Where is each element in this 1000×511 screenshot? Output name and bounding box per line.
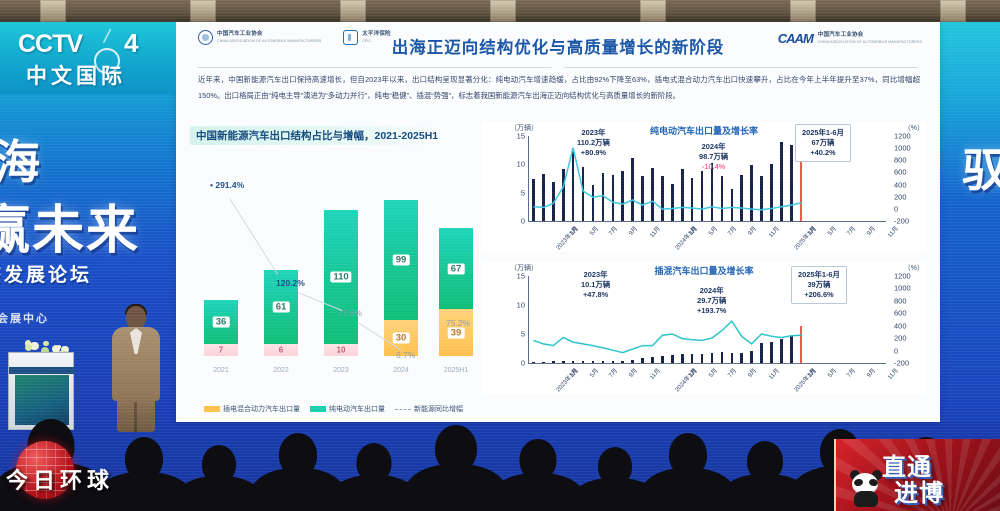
x-axis-label: 7月 (606, 366, 619, 379)
x-axis-label: 9月 (864, 366, 877, 379)
x-axis-label: 11月 (885, 366, 900, 381)
program-bug-left-label: 今日环球 (6, 463, 114, 495)
y-axis-label-right: 200 (894, 334, 907, 343)
slide-body-text: 近年来，中国新能源汽车出口保持高速增长，但自2023年以来，出口结构呈现显著分化… (198, 72, 920, 104)
annotation-year: 2025年1-6月 (798, 270, 840, 280)
slide-title: 出海正迈向结构优化与高质量增长的新阶段 (176, 34, 940, 58)
bar-segment-bev: 99 (384, 200, 418, 320)
channel-subtitle: 中文国际 (26, 60, 126, 90)
bar-value-label: 67 (448, 263, 465, 274)
chart-export-structure-title: 中国新能源汽车出口结构占比与增幅，2021-2025H1 (190, 126, 444, 145)
annotation-volume: 67万辆 (802, 138, 844, 148)
chart-annotation: 2025年1-6月39万辆+206.6% (791, 266, 847, 304)
podium-band (9, 367, 75, 374)
audience-head (747, 441, 783, 481)
annotation-year: 2023年 (581, 270, 610, 280)
cctv-wordmark: CCTV (18, 30, 82, 59)
x-axis-label: 11月 (647, 224, 662, 239)
y-axis-label-left: 0 (521, 217, 525, 226)
chart-phev-export: （万辆） 插混汽车出口量及增长率 （%） 1510501200100080060… (482, 262, 926, 394)
bar-x-label: 2023 (324, 367, 358, 374)
y-axis-label-left: 5 (521, 188, 525, 197)
ceiling-strip (0, 0, 1000, 22)
x-axis-label: 5月 (706, 224, 719, 237)
bar-x-label: 2022 (264, 367, 298, 374)
y-axis-label-left: 15 (517, 132, 525, 141)
audience-shoulders (404, 464, 508, 511)
annotation-year: 2024年 (697, 286, 726, 296)
y-axis-label-left: 0 (521, 359, 525, 368)
y-axis-label-right: 1200 (894, 132, 911, 141)
panda-mascot-icon (848, 471, 884, 505)
annotation-volume: 98.7万辆 (699, 152, 728, 162)
x-axis-label: 9月 (626, 366, 639, 379)
annotation-volume: 110.2万辆 (577, 138, 610, 148)
annotation-growth: +206.6% (798, 290, 840, 300)
flower (25, 344, 32, 351)
program-bug-right: 直通 进博 (834, 439, 1000, 511)
channel-logo-bug: CCTV / 4 中文国际 (0, 22, 176, 94)
y-axis-label-left: 10 (517, 301, 525, 310)
annotation-year: 2024年 (699, 142, 728, 152)
bar-column: 6739 (439, 228, 473, 356)
ceiling-tile (640, 0, 666, 22)
program-bug-right-line2: 进博 (894, 473, 944, 508)
audience-member (572, 447, 658, 511)
x-axis-label: 5月 (587, 224, 600, 237)
x-axis-label: 7月 (844, 224, 857, 237)
audience-head (598, 447, 632, 485)
audience-shoulders (176, 476, 262, 511)
backdrop-text-venue: 际会展中心 (0, 310, 49, 326)
chart-export-structure-legend: 插电混合动力汽车出口量纯电动汽车出口量新能源同比增幅 (204, 404, 463, 414)
audience-head (357, 443, 392, 482)
bar-column: 9930 (384, 200, 418, 356)
chart-annotation: 2024年29.7万辆+193.7% (697, 286, 726, 316)
y-axis-label-left: 5 (521, 330, 525, 339)
annotation-volume: 39万辆 (798, 280, 840, 290)
chart-bev-export: （万辆） 纯电动汽车出口量及增长率 （%） 151050120010008006… (482, 122, 926, 252)
leader-line (229, 198, 278, 275)
chart-annotation: 2024年98.7万辆-10.4% (699, 142, 728, 172)
bar-x-label: 2021 (204, 367, 238, 374)
annotation-growth: +193.7% (697, 306, 726, 316)
x-axis-label: 7月 (725, 366, 738, 379)
legend-swatch (395, 409, 411, 410)
y-axis-label-right: 1000 (894, 284, 911, 293)
bar-growth-label: • 291.4% (210, 180, 244, 190)
y-axis-label-left: 15 (517, 272, 525, 281)
audience-shoulders (572, 478, 658, 511)
bar-value-label: 61 (273, 302, 290, 313)
x-axis-label: 11月 (647, 366, 662, 381)
chart-phev-plot: 151050120010008006004002000-2002023年1月3月… (528, 276, 886, 364)
bar-segment-other: 7 (204, 344, 238, 356)
bar-segment-bev: 67 (439, 228, 473, 309)
body-paragraph: 近年来，中国新能源汽车出口保持高速增长，但自2023年以来，出口结构呈现显著分化… (198, 72, 920, 104)
audience-shoulders (330, 475, 418, 511)
x-axis-label: 7月 (844, 366, 857, 379)
audience-shoulders (492, 473, 584, 511)
legend-item: 新能源同比增幅 (395, 404, 463, 414)
bar-growth-label: 6.7% (396, 350, 415, 360)
audience-head (520, 439, 557, 480)
y-axis-label-left: 10 (517, 160, 525, 169)
x-axis-label: 9月 (745, 224, 758, 237)
legend-item: 插电混合动力汽车出口量 (204, 404, 300, 414)
x-axis-label: 11月 (885, 224, 900, 239)
x-axis-label: 7月 (725, 224, 738, 237)
bar-value-label: 6 (276, 346, 286, 355)
x-axis-label: 9月 (864, 224, 877, 237)
podium-placard (15, 375, 69, 425)
audience-shoulders (250, 468, 346, 511)
annotation-growth: -10.4% (699, 162, 728, 172)
y-axis-label-right: 0 (894, 346, 898, 355)
ceiling-tile (940, 0, 966, 22)
backdrop-text-hai: 海 (0, 126, 42, 192)
flower (43, 341, 48, 346)
bar-segment-bev: 110 (324, 210, 358, 344)
annotation-growth: +40.2% (802, 148, 844, 158)
program-bug-left: 今日环球 (0, 443, 128, 499)
channel-number: 4 (124, 28, 138, 59)
stage-led-wall-right: 驭 (940, 22, 1000, 422)
annotation-growth: +47.8% (581, 290, 610, 300)
y-axis-label-right: 1000 (894, 144, 911, 153)
x-axis-label: 11月 (766, 224, 781, 239)
audience-head (125, 437, 163, 480)
annotation-growth: +80.9% (577, 148, 610, 158)
bar-value-label: 10 (334, 346, 349, 355)
legend-swatch (310, 406, 326, 412)
speaker-head (126, 306, 146, 329)
audience-member (250, 433, 346, 511)
bar-growth-label: 120.2% (276, 278, 305, 288)
y-axis-label-right: 400 (894, 321, 907, 330)
audience-member (404, 425, 508, 511)
audience-member (640, 433, 736, 511)
audience-shoulders (640, 468, 736, 511)
y-axis-label-right: 200 (894, 192, 907, 201)
x-axis-label: 5月 (825, 366, 838, 379)
backdrop-text-ying: 赢未来 (0, 188, 140, 263)
audience-head (435, 425, 477, 472)
bar-segment-other: 10 (324, 344, 358, 356)
legend-label: 纯电动汽车出口量 (329, 406, 385, 413)
ceiling-tile (340, 0, 366, 22)
y-axis-label-right: -200 (894, 217, 909, 226)
bar-value-label: 36 (213, 317, 230, 328)
annotation-volume: 29.7万辆 (697, 296, 726, 306)
y-axis-label-right: 1200 (894, 272, 911, 281)
x-axis-label: 7月 (606, 224, 619, 237)
x-axis-label: 5月 (825, 224, 838, 237)
x-axis-label: 5月 (587, 366, 600, 379)
x-axis-label: 9月 (745, 366, 758, 379)
bar-x-label: 2024 (384, 367, 418, 374)
y-axis-label-right: 600 (894, 309, 907, 318)
audience-head (669, 433, 707, 476)
x-axis-label: 5月 (706, 366, 719, 379)
presentation-slide: 中国汽车工业协会 CHINA ASSOCIATION OF AUTOMOBILE… (176, 22, 940, 422)
audience-member (720, 441, 810, 511)
bar-value-label: 7 (216, 346, 226, 355)
bar-growth-label: 75.2% (446, 318, 470, 328)
audience-shoulders (720, 474, 810, 511)
bar-column: 367 (204, 300, 238, 356)
chart-annotation: 2025年1-6月67万辆+40.2% (795, 124, 851, 162)
legend-item: 纯电动汽车出口量 (310, 404, 385, 414)
audience-head (279, 433, 317, 476)
logo-slash-icon: / (102, 26, 112, 50)
chart-export-structure-plot: 367202161620221101020239930202467392025H… (190, 154, 478, 384)
bar-value-label: 99 (393, 255, 410, 266)
y-axis-label-right: 800 (894, 296, 907, 305)
audience-member (330, 443, 418, 511)
x-axis-label: 11月 (766, 366, 781, 381)
y-axis-label-right: 600 (894, 168, 907, 177)
y-axis-label-right: 800 (894, 156, 907, 165)
bar-segment-phev: 39 (439, 309, 473, 356)
panda-body (854, 491, 878, 507)
ceiling-tile (790, 0, 816, 22)
bar-value-label: 39 (448, 327, 465, 338)
ceiling-tile (40, 0, 66, 22)
bar-column: 11010 (324, 210, 358, 356)
bar-value-label: 110 (330, 272, 351, 283)
bar-value-label: 30 (393, 333, 410, 344)
title-divider (198, 67, 918, 68)
audience-head (202, 445, 236, 483)
annotation-year: 2023年 (577, 128, 610, 138)
chart-annotation: 2023年10.1万辆+47.8% (581, 270, 610, 300)
y-axis-label-right: 0 (894, 204, 898, 213)
legend-label: 新能源同比增幅 (414, 406, 463, 413)
podium (8, 352, 74, 430)
backdrop-text-right: 驭 (962, 134, 1000, 200)
chart-bev-plot: 151050120010008006004002000-2002023年1月3月… (528, 136, 886, 222)
ceiling-tile (490, 0, 516, 22)
speaker-figure (110, 306, 162, 430)
y-axis-label-right: -200 (894, 359, 909, 368)
speaker-legs (117, 398, 155, 432)
backdrop-text-forum: 态发展论坛 (0, 260, 92, 287)
ceiling-tile (190, 0, 216, 22)
legend-label: 插电混合动力汽车出口量 (223, 406, 300, 413)
annotation-volume: 10.1万辆 (581, 280, 610, 290)
y-axis-label-right: 400 (894, 180, 907, 189)
bar-segment-bev: 36 (204, 300, 238, 344)
chart-export-structure: 中国新能源汽车出口结构占比与增幅，2021-2025H1 36720216162… (190, 126, 478, 416)
legend-swatch (204, 406, 220, 412)
broadcast-frame: 海 赢未来 态发展论坛 际会展中心 驭 中国汽车工业协会 CHINA ASSOC… (0, 0, 1000, 511)
bar-segment-other: 6 (264, 344, 298, 356)
annotation-year: 2025年1-6月 (802, 128, 844, 138)
x-axis-label: 9月 (626, 224, 639, 237)
audience-member (492, 439, 584, 511)
chart-annotation: 2023年110.2万辆+80.9% (577, 128, 610, 158)
bar-x-label: 2025H1 (439, 367, 473, 374)
audience-member (176, 445, 262, 511)
